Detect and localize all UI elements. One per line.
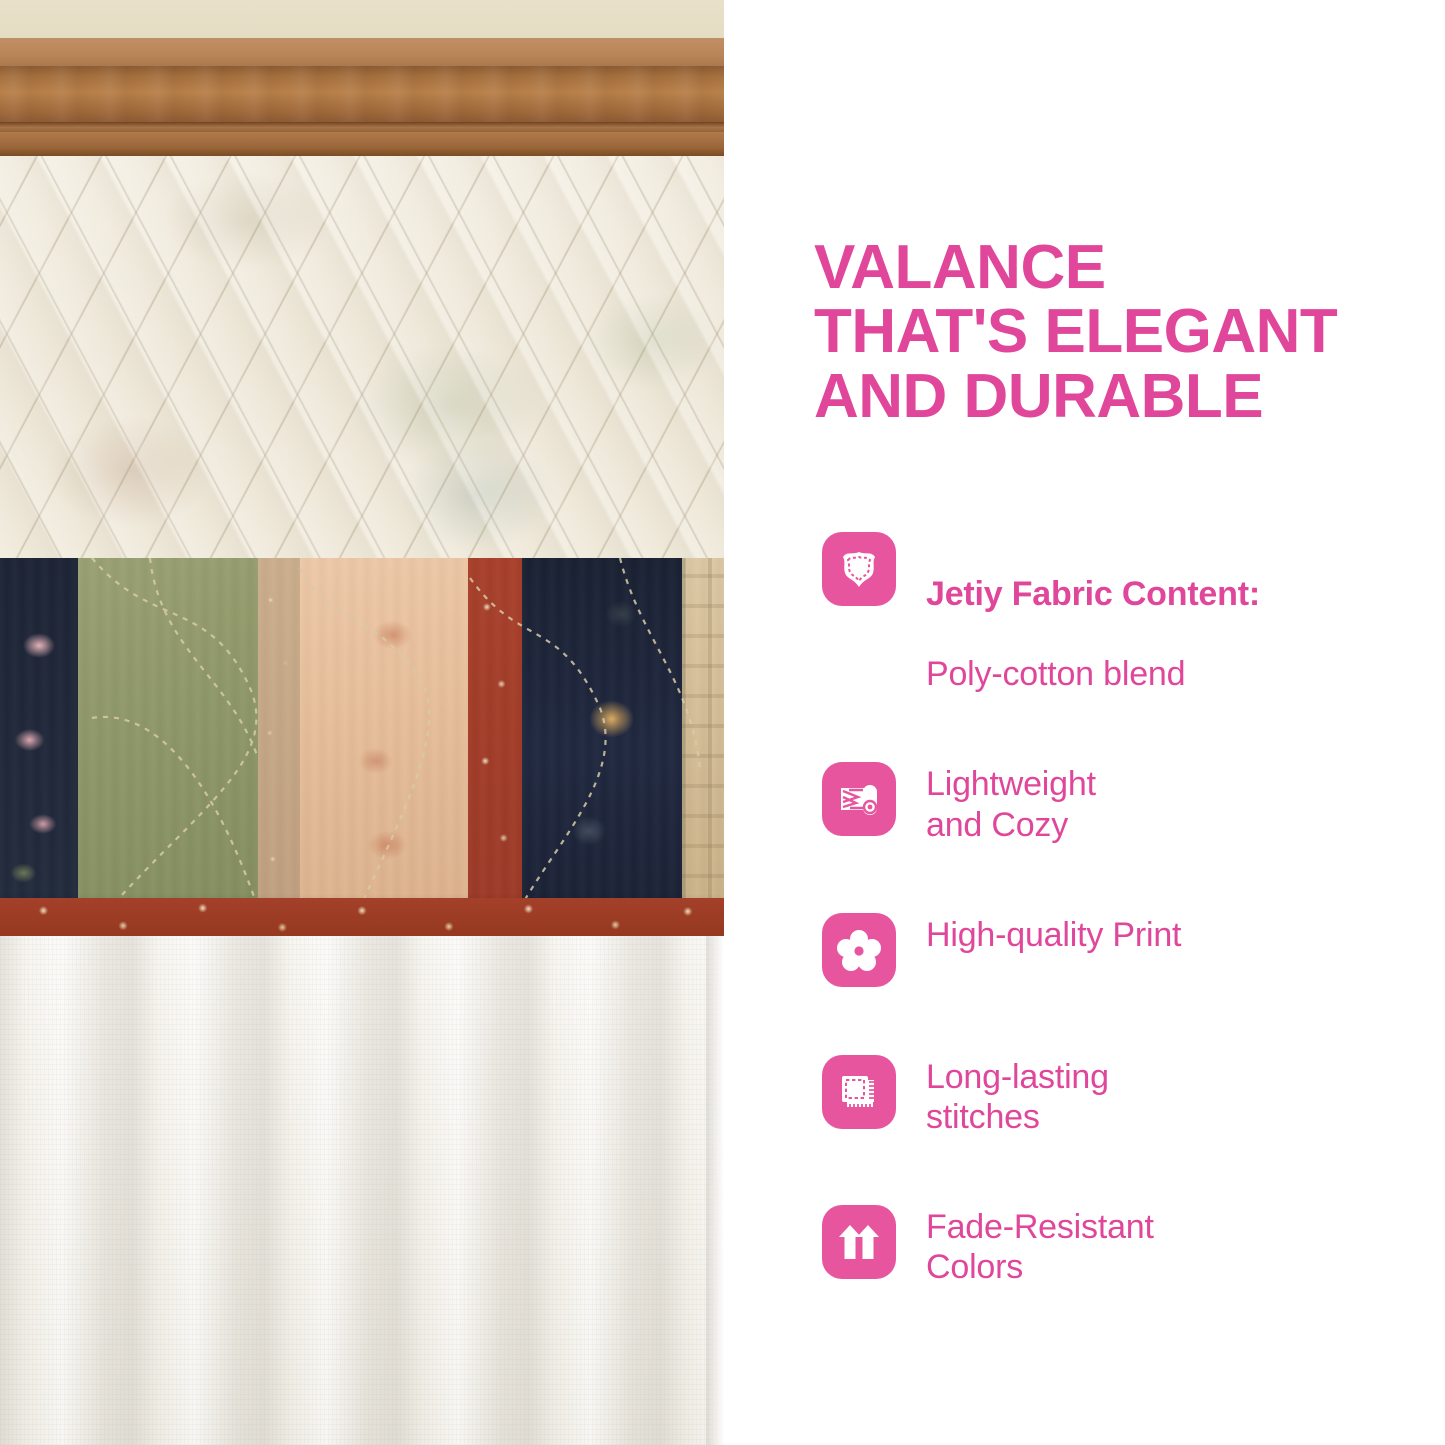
cornice-face bbox=[0, 66, 724, 124]
patchwork-band bbox=[0, 558, 724, 908]
list-item-text: High-quality Print bbox=[926, 913, 1181, 955]
wood-cornice bbox=[0, 38, 724, 158]
list-item: Long-lasting stitches bbox=[822, 1055, 1422, 1137]
double-up-arrow-icon bbox=[822, 1205, 896, 1279]
patch-strip-sage-green bbox=[78, 558, 258, 908]
list-item-text: Jetiy Fabric Content: Poly-cotton blend bbox=[926, 532, 1260, 694]
list-item: Fade-Resistant Colors bbox=[822, 1205, 1422, 1287]
list-item: High-quality Print bbox=[822, 913, 1422, 987]
list-item-text: Lightweight and Cozy bbox=[926, 762, 1096, 844]
patch-strip-red-floral bbox=[468, 558, 522, 908]
cornice-bottom-edge bbox=[0, 132, 724, 158]
cornice-top-edge bbox=[0, 38, 724, 68]
sheer-curtain bbox=[0, 936, 724, 1445]
feature-list: Jetiy Fabric Content: Poly-cotton blend bbox=[822, 532, 1422, 1287]
product-infographic: VALANCE THAT'S ELEGANT AND DURABLE Jetiy… bbox=[0, 0, 1445, 1445]
patch-strip-navy-rose bbox=[0, 558, 78, 908]
list-item-text: Fade-Resistant Colors bbox=[926, 1205, 1154, 1287]
list-item: Lightweight and Cozy bbox=[822, 762, 1422, 844]
patch-strip-speckled-tan bbox=[258, 558, 300, 908]
patch-strip-peach-floral bbox=[300, 558, 468, 908]
list-item-value: Poly-cotton blend bbox=[926, 655, 1185, 693]
content-panel: VALANCE THAT'S ELEGANT AND DURABLE Jetiy… bbox=[724, 0, 1445, 1445]
patch-strip-navy-maple-leaf bbox=[522, 558, 682, 908]
patch-strip-tan-plaid bbox=[682, 558, 724, 908]
fabric-swatch-icon bbox=[822, 532, 896, 606]
page-title: VALANCE THAT'S ELEGANT AND DURABLE bbox=[814, 236, 1414, 429]
cream-quilted-panel bbox=[0, 156, 724, 560]
wall-background bbox=[0, 0, 724, 42]
list-item-text: Long-lasting stitches bbox=[926, 1055, 1109, 1137]
layered-stitch-icon bbox=[822, 1055, 896, 1129]
product-photo bbox=[0, 0, 724, 1445]
list-item: Jetiy Fabric Content: Poly-cotton blend bbox=[822, 532, 1422, 694]
list-item-title: Jetiy Fabric Content: bbox=[926, 574, 1260, 614]
wood-grain-texture bbox=[0, 66, 724, 124]
rust-floral-binding bbox=[0, 898, 724, 940]
flower-icon bbox=[822, 913, 896, 987]
curtain-right-edge bbox=[706, 936, 724, 1445]
fabric-roll-icon bbox=[822, 762, 896, 836]
